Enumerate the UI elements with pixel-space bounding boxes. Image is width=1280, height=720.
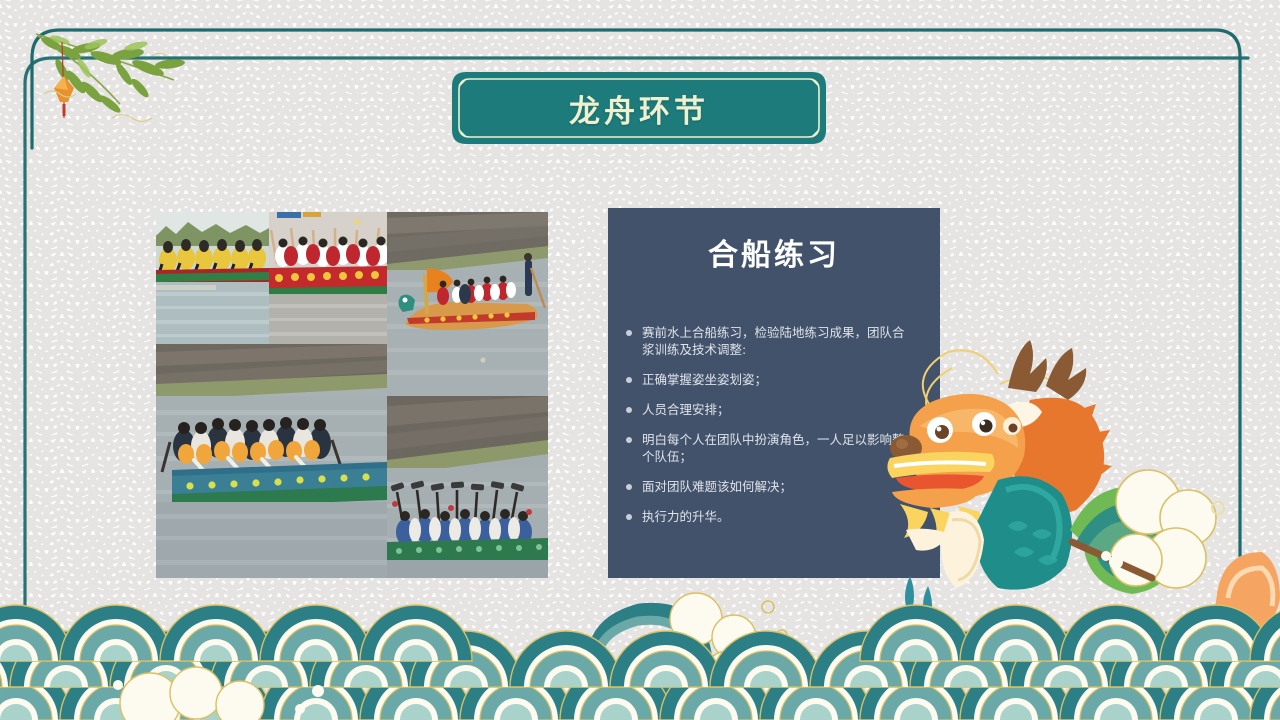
- page-title: 龙舟环节: [452, 72, 826, 144]
- photo-paddles-up: [387, 396, 548, 578]
- photo-paddlers-yellow: [156, 212, 269, 344]
- photo-team-wide: [156, 344, 387, 578]
- photo-collage: [156, 212, 548, 578]
- title-banner: 龙舟环节: [452, 72, 826, 144]
- wave-border-decoration: [0, 575, 1280, 720]
- photo-paddlers-red: [269, 212, 387, 344]
- photo-boat-flag: [387, 212, 548, 396]
- panel-heading: 合船练习: [608, 230, 940, 274]
- willow-branch-decoration: [24, 18, 214, 143]
